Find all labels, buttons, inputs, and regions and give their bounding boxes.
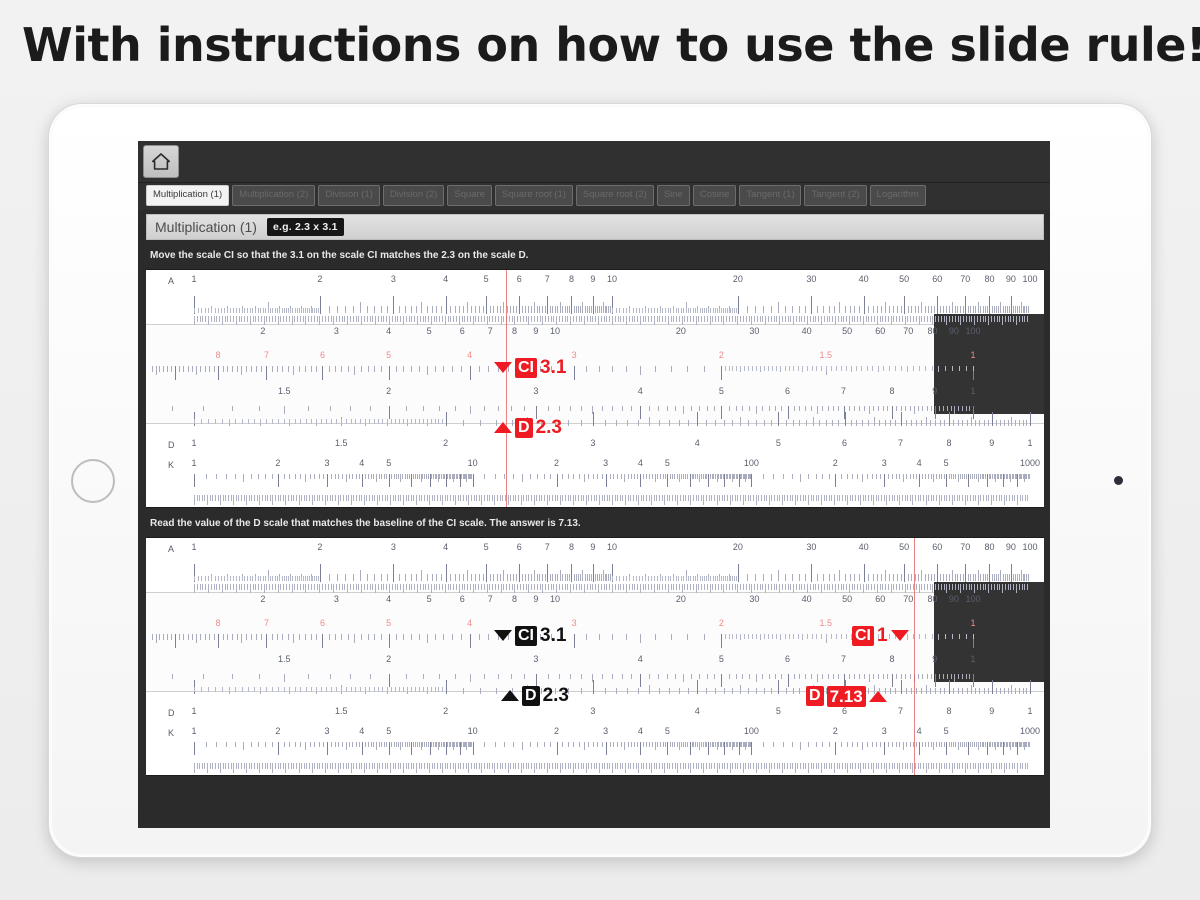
- scale-tick: [729, 316, 730, 322]
- scale-tick: [395, 419, 396, 424]
- scale-tick: [442, 687, 443, 692]
- scale-tick: [676, 576, 677, 581]
- scale-tick: [949, 680, 950, 694]
- scale-tick: [938, 584, 939, 590]
- scale-tick: [544, 763, 545, 769]
- scale-tick: [926, 495, 927, 505]
- scale-tick: [481, 316, 482, 322]
- scale-tick: [688, 688, 689, 694]
- scale-tick: [975, 420, 976, 426]
- scale-tick: [839, 302, 840, 314]
- scale-tick: [152, 634, 153, 640]
- scale-tick: [824, 763, 825, 769]
- scale-tick: [275, 308, 276, 313]
- scale-tick: [399, 574, 400, 582]
- scale-tick: [612, 584, 613, 593]
- scale-tick: [455, 574, 456, 582]
- scale-tick: [314, 474, 315, 479]
- scale-tick: [657, 308, 658, 313]
- scale-tick: [333, 316, 334, 325]
- scale-tick: [405, 574, 406, 582]
- scale-tick: [473, 584, 474, 593]
- scale-tick: [690, 763, 691, 773]
- scale-tick: [649, 742, 650, 747]
- scale-tick: [899, 742, 900, 747]
- scale-tick: [341, 419, 342, 424]
- scale-tick: [659, 763, 660, 769]
- scale-tick: [394, 474, 395, 479]
- scale-tick: [272, 419, 273, 424]
- scale-tick: [481, 495, 482, 505]
- scale-tick: [208, 687, 209, 692]
- device-home-button[interactable]: [71, 459, 115, 503]
- scale-tick: [291, 495, 292, 501]
- scale-tick: [737, 316, 738, 325]
- tab-square-root-2[interactable]: Square root (2): [576, 185, 654, 206]
- scale-tick: [936, 474, 937, 479]
- scale-tick: [267, 495, 268, 501]
- scale-tick: [293, 763, 294, 769]
- scale-tick: [382, 419, 383, 424]
- scale-tick: [336, 419, 337, 424]
- scale-number: 3: [590, 706, 595, 716]
- scale-tick: [447, 763, 448, 769]
- scale-tick: [616, 420, 617, 426]
- scale-tick: [874, 417, 875, 426]
- scale-number: 30: [749, 326, 759, 336]
- scale-tick: [463, 688, 464, 694]
- scale-tick: [753, 763, 754, 769]
- scale-tick: [333, 584, 334, 593]
- scale-tick: [903, 474, 904, 482]
- tab-tangent-2[interactable]: Tangent (2): [804, 185, 866, 206]
- scale-number: 4: [467, 618, 472, 628]
- scale-tick: [863, 763, 864, 769]
- tab-square[interactable]: Square: [447, 185, 492, 206]
- scale-tick: [713, 576, 714, 581]
- scale-tick: [542, 574, 543, 582]
- scale-tick: [587, 316, 588, 322]
- scale-tick: [400, 495, 401, 501]
- scale-tick: [637, 316, 638, 322]
- scale-tick: [794, 406, 795, 411]
- scale-number: 7: [898, 438, 903, 448]
- scale-tick: [887, 674, 888, 679]
- scale-tick: [542, 306, 543, 314]
- scale-tick: [654, 308, 655, 313]
- scale-tick: [414, 316, 415, 322]
- scale-tick: [209, 634, 210, 640]
- scale-tick: [945, 366, 946, 371]
- scale-tick: [628, 474, 629, 479]
- scale-tick: [613, 474, 614, 479]
- scale-tick: [371, 474, 372, 479]
- scale-number: 2: [317, 542, 322, 552]
- scale-tick: [798, 634, 799, 639]
- scale-tick: [776, 366, 777, 371]
- scale-tick: [953, 420, 954, 426]
- scale-tick: [811, 564, 812, 582]
- scale-tick: [662, 308, 663, 313]
- scale-tick: [634, 742, 635, 747]
- tab-strip[interactable]: Multiplication (1)Multiplication (2)Divi…: [138, 183, 1050, 210]
- scale-tick: [670, 576, 671, 581]
- scale-tick: [574, 306, 575, 314]
- tab-multiplication-2[interactable]: Multiplication (2): [232, 185, 315, 206]
- scale-tick: [587, 574, 588, 582]
- scale-tick: [808, 474, 809, 479]
- scale-tick: [892, 742, 893, 747]
- scale-tick: [748, 495, 749, 501]
- scale-tick: [392, 316, 393, 322]
- scale-tick: [683, 742, 684, 747]
- scale-tick: [295, 687, 296, 692]
- scale-tick: [899, 763, 900, 773]
- scale-tick: [673, 584, 674, 590]
- scale-tick: [1017, 763, 1018, 773]
- scale-tick: [450, 763, 451, 769]
- scale-tick: [237, 634, 238, 640]
- scale-tick: [431, 316, 432, 325]
- scale-tick: [854, 584, 855, 590]
- scale-tick: [409, 742, 410, 747]
- scale-number: 10: [468, 726, 478, 736]
- scale-tick: [737, 495, 738, 501]
- scale-tick: [417, 474, 418, 479]
- scale-tick: [323, 742, 324, 747]
- scale-tick: [382, 495, 383, 501]
- tab-square-root-1[interactable]: Square root (1): [495, 185, 573, 206]
- tab-multiplication-1[interactable]: Multiplication (1): [146, 185, 229, 206]
- scale-tick: [456, 316, 457, 322]
- scale-tick: [559, 406, 560, 411]
- scale-tick: [588, 495, 589, 501]
- scale-number: 1: [191, 438, 196, 448]
- scale-tick: [553, 584, 554, 590]
- scale-tick: [985, 316, 986, 322]
- scale-tick: [734, 576, 735, 581]
- scale-tick: [738, 564, 739, 582]
- scale-tick: [383, 316, 384, 322]
- scale-tick: [339, 316, 340, 322]
- scale-number: 8: [216, 618, 221, 628]
- slide-rule-step1[interactable]: A123456789102030405060708090100234567891…: [146, 269, 1044, 508]
- scale-tick: [625, 495, 626, 505]
- scale-tick: [248, 687, 249, 692]
- scale-tick: [197, 316, 198, 322]
- scale-tick: [411, 419, 412, 424]
- scale-tick: [960, 474, 961, 479]
- scale-tick: [436, 306, 437, 314]
- scale-tick: [295, 308, 296, 313]
- scale-tick: [208, 308, 209, 313]
- scale-tick: [541, 763, 542, 769]
- scale-tick: [921, 420, 922, 426]
- scale-tick: [719, 495, 720, 501]
- scale-tick: [373, 474, 374, 479]
- scale-tick: [907, 763, 908, 769]
- scale-tick: [427, 634, 428, 643]
- scale-tick: [403, 366, 404, 372]
- scale-tick: [925, 574, 926, 582]
- scale-tick: [777, 495, 778, 501]
- scale-tick: [557, 306, 558, 314]
- scale-tick: [340, 763, 341, 769]
- scale-tick: [692, 474, 693, 479]
- scale-tick: [522, 574, 523, 582]
- scale-tick: [206, 474, 207, 479]
- scale-tick: [937, 296, 938, 314]
- scale-tick: [921, 688, 922, 694]
- scale-tick: [475, 306, 476, 314]
- tab-logarithm[interactable]: Logarithm: [870, 185, 926, 206]
- scale-tick: [385, 495, 386, 501]
- scale-tick: [311, 584, 312, 590]
- scale-tick: [885, 302, 886, 314]
- scale-tick: [581, 406, 582, 411]
- scale-tick: [620, 316, 621, 322]
- scale-tick: [971, 417, 972, 426]
- scale-tick: [684, 584, 685, 590]
- scale-tick: [916, 584, 917, 590]
- scale-tick: [568, 495, 569, 501]
- marker-scale-chip: D: [522, 686, 540, 706]
- scale-tick: [671, 366, 672, 372]
- scale-tick: [715, 576, 716, 581]
- home-icon-button[interactable]: [143, 145, 179, 178]
- scale-tick: [402, 474, 403, 479]
- scale-tick: [224, 576, 225, 581]
- scale-tick: [946, 584, 947, 593]
- scale-tick: [252, 576, 253, 581]
- scale-tick: [715, 316, 716, 322]
- tab-division-2[interactable]: Division (2): [383, 185, 445, 206]
- scale-tick: [693, 742, 694, 747]
- scale-name-d: D: [168, 440, 175, 450]
- scale-tick: [762, 406, 763, 411]
- scale-tick: [807, 584, 808, 593]
- scale-tick: [699, 406, 700, 411]
- scale-tick: [376, 742, 377, 750]
- scale-tick: [241, 366, 242, 375]
- scale-tick: [656, 763, 657, 769]
- cursor-hairline[interactable]: [506, 270, 507, 507]
- scale-tick: [567, 316, 568, 322]
- scale-tick: [876, 474, 877, 479]
- scale-tick: [557, 763, 558, 769]
- scale-tick: [795, 495, 796, 505]
- scale-tick: [781, 406, 782, 411]
- scale-tick: [649, 495, 650, 501]
- scale-tick: [406, 406, 407, 411]
- scale-tick: [888, 316, 889, 322]
- scale-tick: [239, 576, 240, 581]
- scale-number: 1000: [1020, 726, 1040, 736]
- scale-tick: [979, 420, 980, 426]
- scale-tick: [897, 495, 898, 501]
- scale-tick: [475, 584, 476, 590]
- scale-tick: [215, 763, 216, 769]
- scale-tick: [581, 763, 582, 769]
- scale-tick: [327, 742, 328, 755]
- marker-d-2-3: D2.3: [494, 418, 562, 438]
- scale-tick: [194, 316, 195, 325]
- scale-tick: [289, 742, 290, 747]
- scale-tick: [899, 316, 900, 322]
- scale-tick: [829, 495, 830, 501]
- scale-tick: [194, 763, 195, 773]
- scale-tick: [805, 763, 806, 769]
- scale-number: 50: [899, 274, 909, 284]
- scale-tick: [645, 584, 646, 590]
- scale-tick: [837, 495, 838, 501]
- scale-tick: [1029, 474, 1030, 479]
- scale-tick: [1020, 495, 1021, 501]
- marker-ci-1: CI1: [852, 626, 909, 646]
- slide-rule-step2[interactable]: A123456789102030405060708090100234567891…: [146, 537, 1044, 776]
- scale-tick: [484, 763, 485, 769]
- scale-tick: [916, 742, 917, 747]
- scale-tick: [648, 576, 649, 581]
- scale-tick: [312, 576, 313, 581]
- scale-tick: [559, 674, 560, 679]
- scale-tick: [854, 306, 855, 314]
- scale-tick: [593, 412, 594, 426]
- scale-tick: [695, 308, 696, 313]
- scale-tick: [489, 763, 490, 769]
- scale-tick: [925, 634, 926, 639]
- scale-number: 2: [719, 350, 724, 360]
- scale-tick: [235, 474, 236, 479]
- scale-tick: [711, 763, 712, 769]
- scale-tick: [231, 495, 232, 501]
- scale-tick: [581, 316, 582, 322]
- scale-tick: [740, 366, 741, 371]
- scale-tick: [598, 316, 599, 325]
- scale-tick: [792, 742, 793, 747]
- scale-tick: [562, 495, 563, 501]
- scale-tick: [708, 576, 709, 581]
- scale-tick: [441, 306, 442, 314]
- scale-number: 8: [512, 326, 517, 336]
- scale-tick: [993, 763, 994, 769]
- scale-tick: [522, 306, 523, 314]
- front-camera-icon: [1114, 476, 1123, 485]
- tab-sine[interactable]: Sine: [657, 185, 690, 206]
- scale-number: 60: [875, 326, 885, 336]
- scale-tick: [537, 574, 538, 582]
- scale-tick: [325, 316, 326, 322]
- scale-tick: [270, 495, 271, 501]
- scale-tick: [252, 308, 253, 313]
- scale-tick: [409, 316, 410, 322]
- scale-tick: [732, 763, 733, 769]
- scale-tick: [391, 474, 392, 479]
- scale-tick: [876, 495, 877, 501]
- scale-tick: [303, 316, 304, 322]
- scale-tick: [425, 316, 426, 322]
- scale-tick: [228, 763, 229, 769]
- scale-name-k: K: [168, 728, 174, 738]
- scale-tick: [617, 763, 618, 769]
- cursor-hairline[interactable]: [914, 538, 915, 775]
- scale-tick: [968, 574, 969, 582]
- tab-tangent-1[interactable]: Tangent (1): [739, 185, 801, 206]
- scale-tick: [797, 763, 798, 769]
- scale-tick: [736, 576, 737, 581]
- scale-tick: [537, 474, 538, 479]
- marker-value: 1: [877, 626, 888, 645]
- scale-tick: [513, 742, 514, 747]
- scale-tick: [459, 584, 460, 593]
- scale-tick: [458, 763, 459, 769]
- scale-tick: [1025, 495, 1026, 501]
- scale-tick: [969, 316, 970, 322]
- scale-tick: [351, 763, 352, 773]
- scale-tick: [996, 495, 997, 501]
- scale-tick: [582, 302, 583, 314]
- scale-tick: [864, 406, 865, 411]
- scale-tick: [484, 674, 485, 679]
- scale-tick: [649, 674, 650, 679]
- scale-tick: [565, 306, 566, 314]
- scale-tick: [262, 495, 263, 501]
- scale-tick: [874, 316, 875, 322]
- scale-tick: [419, 763, 420, 769]
- scale-tick: [441, 574, 442, 582]
- tab-cosine[interactable]: Cosine: [693, 185, 737, 206]
- scale-tick: [892, 474, 893, 479]
- scale-tick: [523, 763, 524, 769]
- scale-tick: [492, 495, 493, 501]
- scale-tick: [955, 316, 956, 322]
- scale-tick: [657, 742, 658, 747]
- scale-tick: [673, 308, 674, 313]
- scale-tick: [910, 316, 911, 322]
- scale-tick: [576, 316, 577, 322]
- scale-tick: [916, 474, 917, 479]
- scale-tick: [625, 763, 626, 773]
- scale-tick: [632, 316, 633, 322]
- scale-tick: [756, 674, 757, 682]
- scale-tick: [429, 763, 430, 773]
- scale-tick: [215, 308, 216, 313]
- scale-tick: [272, 576, 273, 581]
- scale-tick: [884, 742, 885, 755]
- scale-tick: [548, 406, 549, 411]
- scale-tick: [996, 763, 997, 769]
- scale-tick: [453, 316, 454, 322]
- scale-tick: [732, 420, 733, 426]
- scale-tick: [895, 366, 896, 371]
- scale-tick: [270, 763, 271, 769]
- scale-tick: [199, 763, 200, 769]
- scale-tick: [796, 316, 797, 322]
- scale-tick: [649, 763, 650, 769]
- scale-tick: [889, 763, 890, 769]
- scale-number: 5: [776, 438, 781, 448]
- scale-tick: [919, 474, 920, 487]
- scale-tick: [565, 574, 566, 582]
- tab-division-1[interactable]: Division (1): [318, 185, 380, 206]
- scale-tick: [756, 495, 757, 505]
- marker-d-7-13: D7.13: [806, 686, 887, 707]
- scale-tick: [743, 584, 744, 590]
- scale-tick: [407, 419, 408, 424]
- scale-tick: [552, 495, 553, 501]
- scale-tick: [628, 495, 629, 501]
- scale-tick: [359, 474, 360, 479]
